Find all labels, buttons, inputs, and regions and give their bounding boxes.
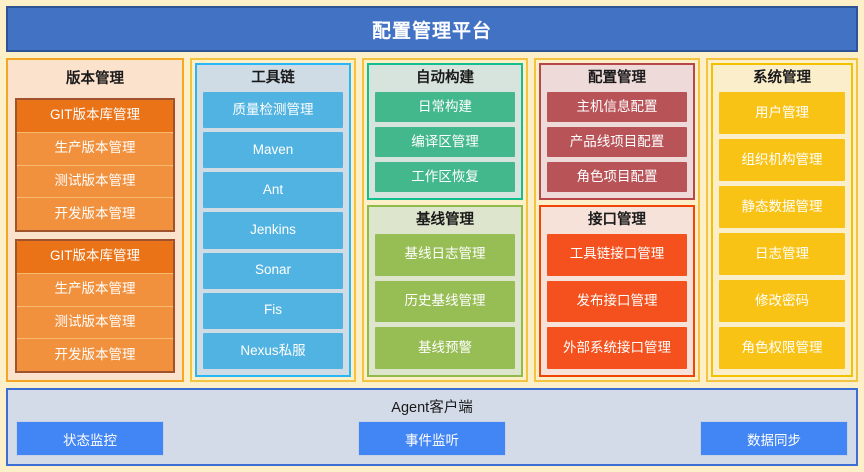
menu-item-history-baseline[interactable]: 历史基线管理 xyxy=(375,281,515,323)
architecture-diagram: 配置管理平台 版本管理 GIT版本库管理 生产版本管理 测试版本管理 开发版本管… xyxy=(0,0,864,472)
frame-config-interface: 配置管理 主机信息配置 产品线项目配置 角色项目配置 接口管理 工具链接口管理 … xyxy=(534,58,700,382)
panel-body-auto-build: 日常构建 编译区管理 工作区恢复 xyxy=(375,92,515,192)
menu-item-release-interface[interactable]: 发布接口管理 xyxy=(547,281,687,323)
panel-baseline-management: 基线管理 基线日志管理 历史基线管理 基线预警 xyxy=(367,205,523,377)
menu-item-production-version-1[interactable]: 生产版本管理 xyxy=(17,133,173,166)
panel-system-management: 系统管理 用户管理 组织机构管理 静态数据管理 日志管理 修改密码 角色权限管理 xyxy=(711,63,853,377)
menu-item-workspace-restore[interactable]: 工作区恢复 xyxy=(375,162,515,192)
menu-item-nexus[interactable]: Nexus私服 xyxy=(203,333,343,369)
event-listener-button[interactable]: 事件监听 xyxy=(358,421,506,456)
data-sync-button[interactable]: 数据同步 xyxy=(700,421,848,456)
panel-version-management: 版本管理 GIT版本库管理 生产版本管理 测试版本管理 开发版本管理 GIT版本… xyxy=(6,58,184,382)
menu-item-role-project-config[interactable]: 角色项目配置 xyxy=(547,162,687,192)
column-build-baseline: 自动构建 日常构建 编译区管理 工作区恢复 基线管理 基线日志管理 历史基线管理… xyxy=(362,58,528,382)
panel-title-baseline-management: 基线管理 xyxy=(375,211,515,234)
panel-title-agent-client: Agent客户端 xyxy=(16,394,848,421)
menu-item-baseline-alert[interactable]: 基线预警 xyxy=(375,327,515,369)
menu-item-log-management[interactable]: 日志管理 xyxy=(719,233,845,275)
panel-toolchain: 工具链 质量检测管理 Maven Ant Jenkins Sonar Fis N… xyxy=(195,63,351,377)
panel-body-toolchain: 质量检测管理 Maven Ant Jenkins Sonar Fis Nexus… xyxy=(203,92,343,369)
menu-item-external-system-interface[interactable]: 外部系统接口管理 xyxy=(547,327,687,369)
panel-title-toolchain: 工具链 xyxy=(203,69,343,92)
menu-item-role-permission-management[interactable]: 角色权限管理 xyxy=(719,327,845,369)
menu-item-sonar[interactable]: Sonar xyxy=(203,253,343,289)
column-version-management: 版本管理 GIT版本库管理 生产版本管理 测试版本管理 开发版本管理 GIT版本… xyxy=(6,58,184,382)
column-toolchain: 工具链 质量检测管理 Maven Ant Jenkins Sonar Fis N… xyxy=(190,58,356,382)
panel-agent-client: Agent客户端 状态监控 事件监听 数据同步 xyxy=(6,388,858,466)
status-monitor-button[interactable]: 状态监控 xyxy=(16,421,164,456)
menu-item-dev-version-2[interactable]: 开发版本管理 xyxy=(17,339,173,371)
version-group-1: GIT版本库管理 生产版本管理 测试版本管理 开发版本管理 xyxy=(15,98,175,232)
panel-body-interface-management: 工具链接口管理 发布接口管理 外部系统接口管理 xyxy=(547,234,687,369)
panel-body-config-management: 主机信息配置 产品线项目配置 角色项目配置 xyxy=(547,92,687,192)
agent-client-buttons: 状态监控 事件监听 数据同步 xyxy=(16,421,848,456)
panel-title-auto-build: 自动构建 xyxy=(375,69,515,92)
menu-item-change-password[interactable]: 修改密码 xyxy=(719,280,845,322)
menu-item-jenkins[interactable]: Jenkins xyxy=(203,212,343,248)
menu-item-toolchain-interface[interactable]: 工具链接口管理 xyxy=(547,234,687,276)
panel-title-interface-management: 接口管理 xyxy=(547,211,687,234)
menu-item-quality-inspection[interactable]: 质量检测管理 xyxy=(203,92,343,128)
column-system-management: 系统管理 用户管理 组织机构管理 静态数据管理 日志管理 修改密码 角色权限管理 xyxy=(706,58,858,382)
menu-item-compile-zone[interactable]: 编译区管理 xyxy=(375,127,515,157)
module-columns: 版本管理 GIT版本库管理 生产版本管理 测试版本管理 开发版本管理 GIT版本… xyxy=(6,58,858,382)
menu-item-product-line-config[interactable]: 产品线项目配置 xyxy=(547,127,687,157)
frame-system-management: 系统管理 用户管理 组织机构管理 静态数据管理 日志管理 修改密码 角色权限管理 xyxy=(706,58,858,382)
menu-item-baseline-log[interactable]: 基线日志管理 xyxy=(375,234,515,276)
menu-item-fis[interactable]: Fis xyxy=(203,293,343,329)
menu-item-production-version-2[interactable]: 生产版本管理 xyxy=(17,274,173,307)
menu-item-maven[interactable]: Maven xyxy=(203,132,343,168)
version-group-2: GIT版本库管理 生产版本管理 测试版本管理 开发版本管理 xyxy=(15,239,175,373)
page-title: 配置管理平台 xyxy=(6,6,858,52)
panel-auto-build: 自动构建 日常构建 编译区管理 工作区恢复 xyxy=(367,63,523,200)
panel-interface-management: 接口管理 工具链接口管理 发布接口管理 外部系统接口管理 xyxy=(539,205,695,377)
panel-title-system-management: 系统管理 xyxy=(719,69,845,92)
menu-item-test-version-1[interactable]: 测试版本管理 xyxy=(17,166,173,199)
menu-item-user-management[interactable]: 用户管理 xyxy=(719,92,845,134)
panel-title-config-management: 配置管理 xyxy=(547,69,687,92)
menu-item-host-info-config[interactable]: 主机信息配置 xyxy=(547,92,687,122)
menu-item-ant[interactable]: Ant xyxy=(203,172,343,208)
panel-body-baseline-management: 基线日志管理 历史基线管理 基线预警 xyxy=(375,234,515,369)
panel-body-system-management: 用户管理 组织机构管理 静态数据管理 日志管理 修改密码 角色权限管理 xyxy=(719,92,845,369)
menu-item-daily-build[interactable]: 日常构建 xyxy=(375,92,515,122)
menu-item-static-data-management[interactable]: 静态数据管理 xyxy=(719,186,845,228)
frame-build-baseline: 自动构建 日常构建 编译区管理 工作区恢复 基线管理 基线日志管理 历史基线管理… xyxy=(362,58,528,382)
menu-item-git-repo-management-2[interactable]: GIT版本库管理 xyxy=(17,241,173,274)
panel-title-version-management: 版本管理 xyxy=(15,65,175,91)
frame-toolchain: 工具链 质量检测管理 Maven Ant Jenkins Sonar Fis N… xyxy=(190,58,356,382)
menu-item-test-version-2[interactable]: 测试版本管理 xyxy=(17,307,173,340)
column-config-interface: 配置管理 主机信息配置 产品线项目配置 角色项目配置 接口管理 工具链接口管理 … xyxy=(534,58,700,382)
menu-item-git-repo-management-1[interactable]: GIT版本库管理 xyxy=(17,100,173,133)
panel-config-management: 配置管理 主机信息配置 产品线项目配置 角色项目配置 xyxy=(539,63,695,200)
menu-item-dev-version-1[interactable]: 开发版本管理 xyxy=(17,198,173,230)
menu-item-org-management[interactable]: 组织机构管理 xyxy=(719,139,845,181)
